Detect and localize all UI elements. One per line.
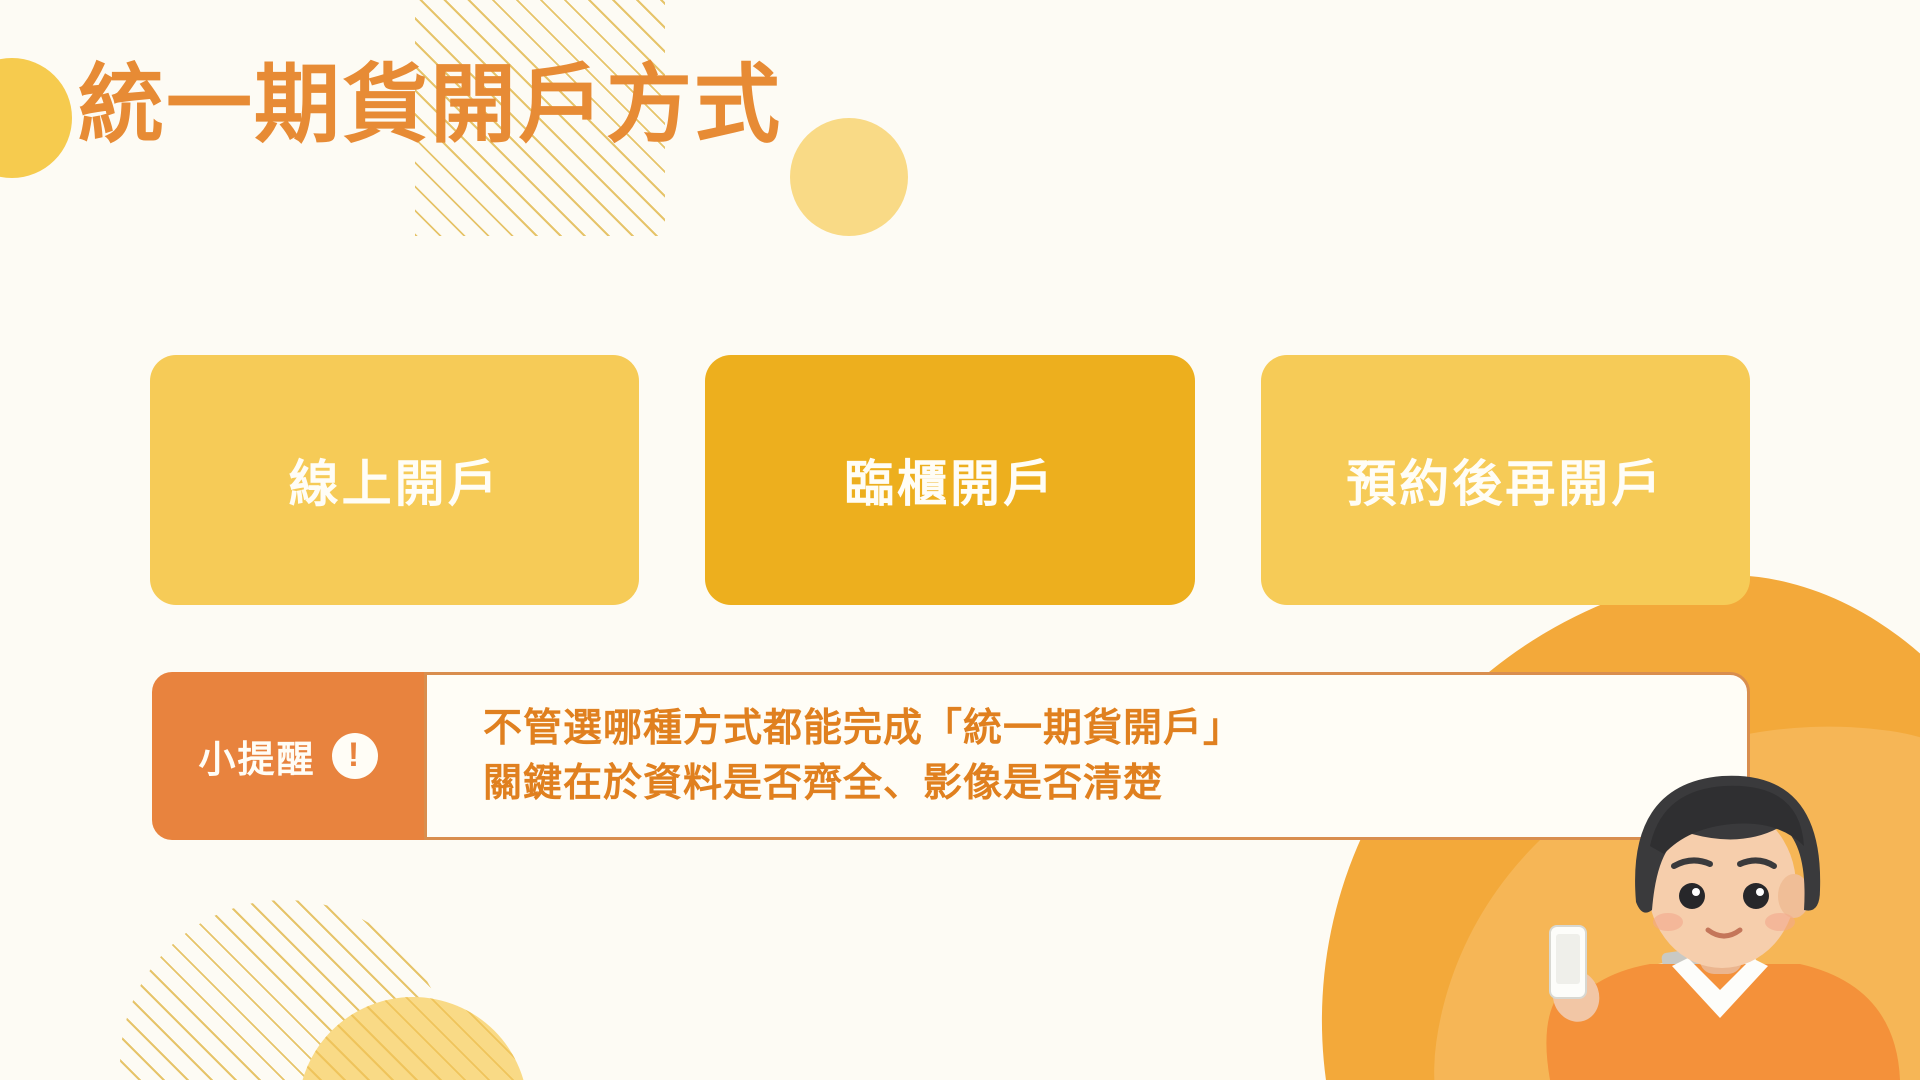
yellow-circle-decoration bbox=[0, 58, 72, 178]
soft-yellow-circle-decoration bbox=[790, 118, 908, 236]
woman-with-phone-illustration bbox=[1400, 750, 1920, 1080]
hatched-circle-overlay-decoration bbox=[298, 997, 528, 1080]
method-card-online[interactable]: 線上開戶 bbox=[150, 355, 639, 605]
tip-label-text: 小提醒 bbox=[199, 729, 316, 783]
tip-line-1: 不管選哪種方式都能完成「統一期貨開戶」 bbox=[483, 701, 1747, 756]
method-card-reserved[interactable]: 預約後再開戶 bbox=[1261, 355, 1750, 605]
page-title: 統一期貨開戶方式 bbox=[78, 58, 782, 153]
slide-canvas: 統一期貨開戶方式 線上開戶 臨櫃開戶 預約後再開戶 小提醒 ! 不管選哪種方式都… bbox=[0, 0, 1920, 1080]
hatched-circle-decoration bbox=[120, 900, 450, 1080]
method-card-counter[interactable]: 臨櫃開戶 bbox=[705, 355, 1194, 605]
tip-label: 小提醒 ! bbox=[152, 672, 424, 840]
bottom-left-circle-decoration bbox=[298, 997, 528, 1080]
method-card-list: 線上開戶 臨櫃開戶 預約後再開戶 bbox=[150, 355, 1750, 605]
exclamation-icon: ! bbox=[332, 733, 378, 779]
